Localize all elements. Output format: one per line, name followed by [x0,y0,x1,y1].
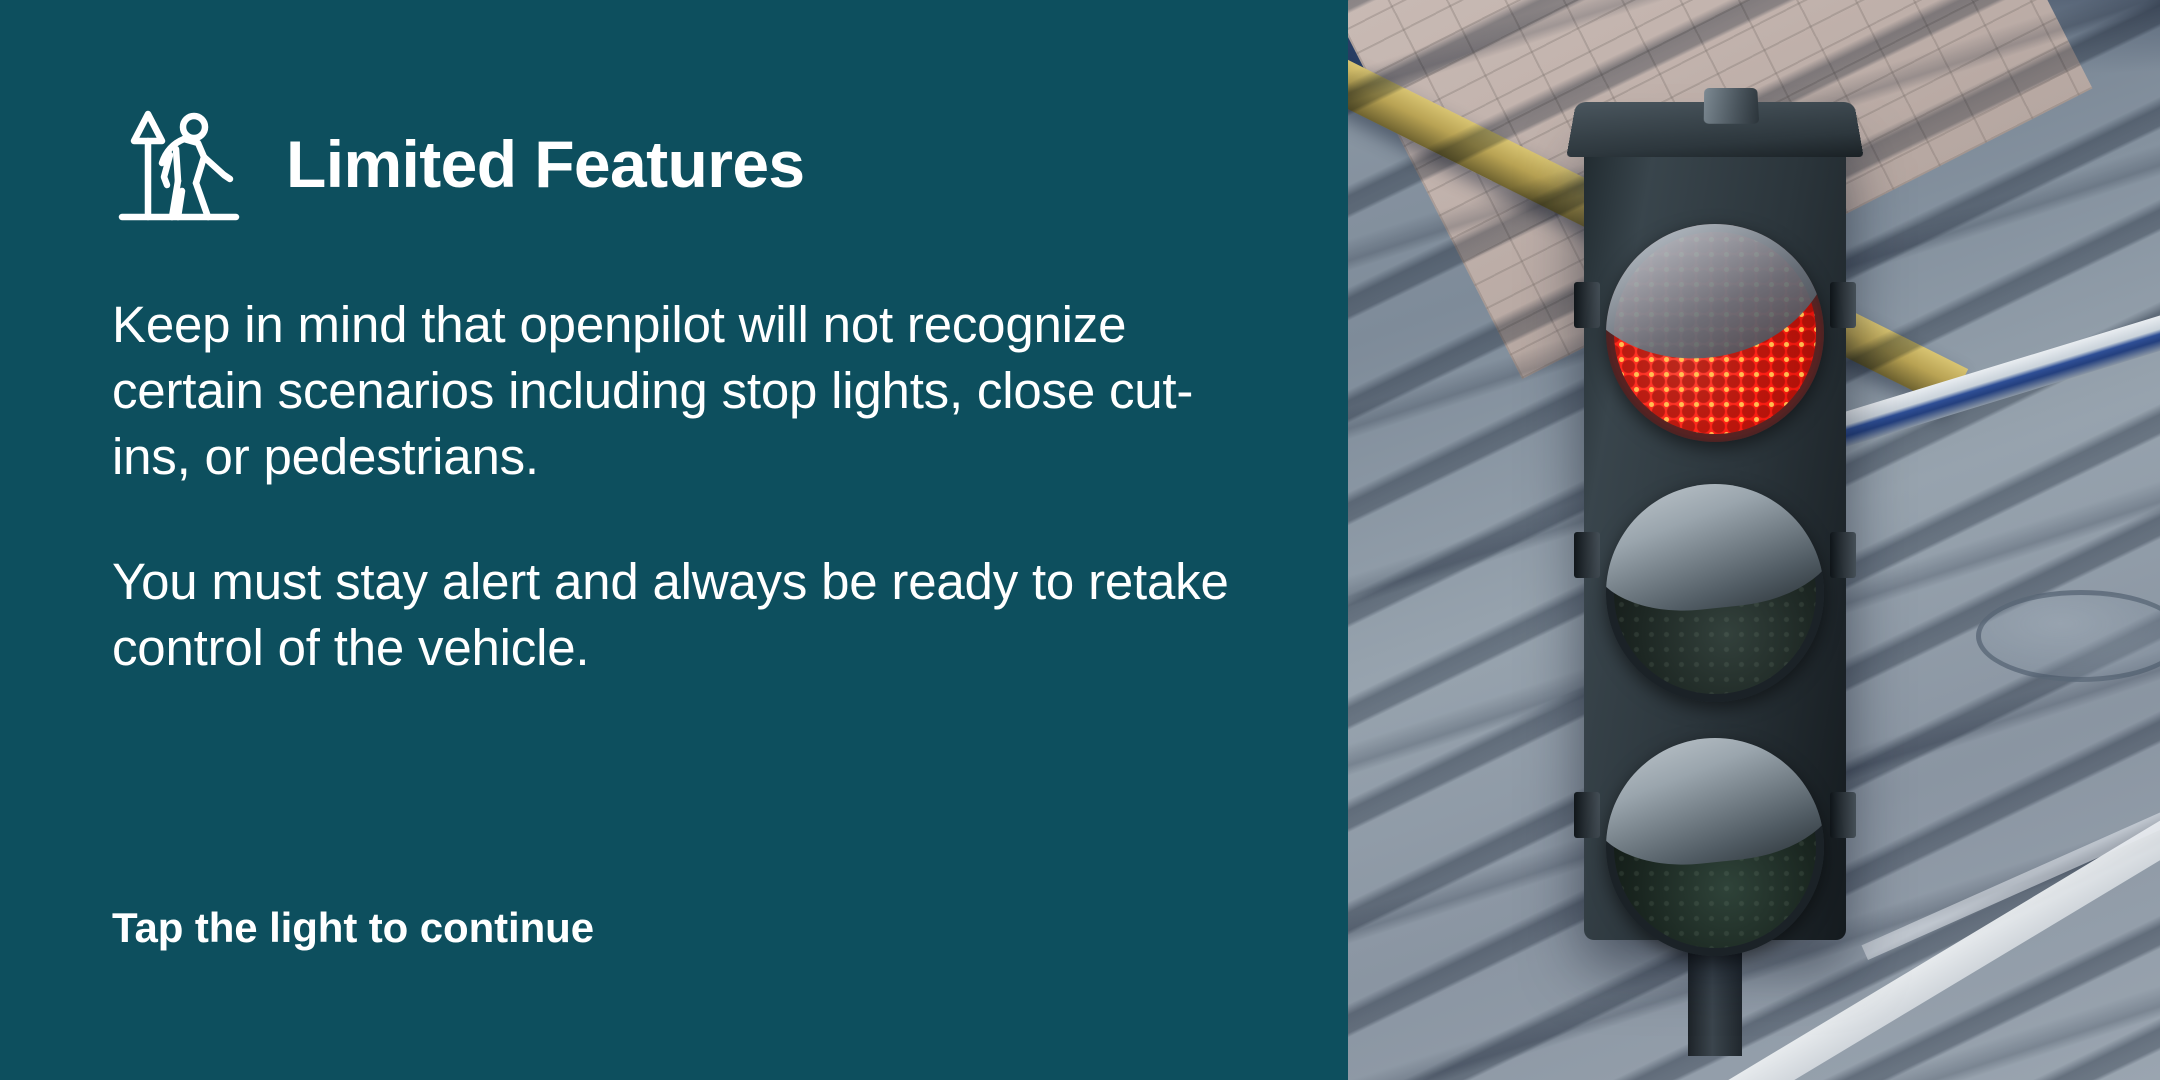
mount-bracket-left-2 [1574,532,1600,578]
red-lamp[interactable] [1606,224,1824,442]
traffic-light-antenna-box [1704,88,1759,124]
body-paragraph-2: You must stay alert and always be ready … [112,549,1247,681]
mount-bracket-left-1 [1574,282,1600,328]
mount-bracket-left-3 [1574,792,1600,838]
traffic-light-top-cap [1566,102,1863,157]
pedestrian-crossing-sign-icon [112,95,250,233]
mount-bracket-right-3 [1830,792,1856,838]
continue-instruction: Tap the light to continue [112,905,594,951]
green-lamp[interactable] [1606,738,1824,956]
traffic-light-housing [1584,132,1846,940]
mount-bracket-right-2 [1830,532,1856,578]
onboarding-screen: Limited Features Keep in mind that openp… [0,0,2160,1080]
body-text-block: Keep in mind that openpilot will not rec… [112,292,1272,681]
traffic-light-fixture[interactable] [1570,96,1860,964]
header-row: Limited Features [112,95,805,233]
page-title: Limited Features [286,131,805,197]
traffic-light-photo[interactable] [1348,0,2160,1080]
amber-lamp[interactable] [1606,484,1824,702]
body-paragraph-1: Keep in mind that openpilot will not rec… [112,292,1247,489]
info-panel: Limited Features Keep in mind that openp… [0,0,1348,1080]
mount-bracket-right-1 [1830,282,1856,328]
